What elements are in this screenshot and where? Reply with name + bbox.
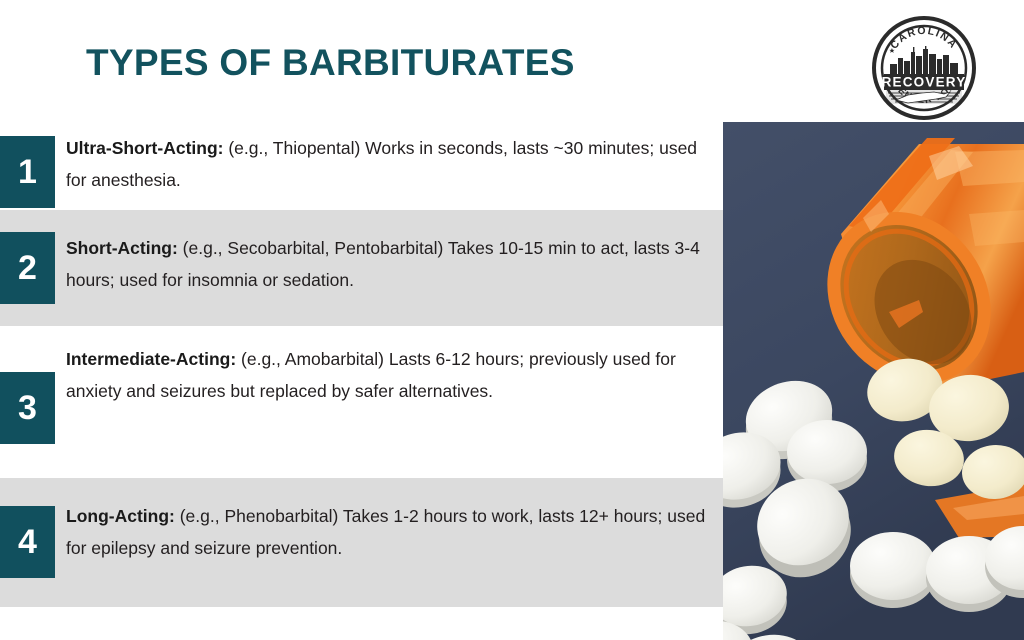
row-number-badge: 1 bbox=[0, 136, 55, 208]
page-title: TYPES OF BARBITURATES bbox=[86, 42, 575, 84]
row-term: Long-Acting: bbox=[66, 506, 175, 526]
svg-text:CAROLINA: CAROLINA bbox=[888, 25, 960, 52]
pill-bottle-photo bbox=[723, 122, 1024, 640]
carolina-recovery-center-logo: CAROLINA CENTER FOR bbox=[872, 16, 976, 120]
logo-center-text: RECOVERY bbox=[882, 75, 967, 90]
list-item: 3 Intermediate-Acting: (e.g., Amobarbita… bbox=[0, 326, 723, 478]
row-text: Short-Acting: (e.g., Secobarbital, Pento… bbox=[66, 232, 706, 296]
logo-star-icon bbox=[889, 48, 894, 53]
row-text: Ultra-Short-Acting: (e.g., Thiopental) W… bbox=[66, 132, 706, 196]
row-number-badge: 2 bbox=[0, 232, 55, 304]
logo-state-shape bbox=[886, 90, 962, 104]
row-number-badge: 3 bbox=[0, 372, 55, 444]
infographic-page: TYPES OF BARBITURATES CAROLINA CENTER FO… bbox=[0, 0, 1024, 640]
list-item: 4 Long-Acting: (e.g., Phenobarbital) Tak… bbox=[0, 478, 723, 607]
list-item: 2 Short-Acting: (e.g., Secobarbital, Pen… bbox=[0, 210, 723, 326]
row-term: Ultra-Short-Acting: bbox=[66, 138, 223, 158]
city-skyline-icon bbox=[890, 44, 958, 76]
row-number-badge: 4 bbox=[0, 506, 55, 578]
row-text: Intermediate-Acting: (e.g., Amobarbital)… bbox=[66, 343, 706, 407]
list-item: 1 Ultra-Short-Acting: (e.g., Thiopental)… bbox=[0, 118, 723, 210]
row-term: Intermediate-Acting: bbox=[66, 349, 236, 369]
row-text: Long-Acting: (e.g., Phenobarbital) Takes… bbox=[66, 500, 706, 564]
row-term: Short-Acting: bbox=[66, 238, 178, 258]
logo-top-arc-text: CAROLINA bbox=[888, 25, 960, 52]
